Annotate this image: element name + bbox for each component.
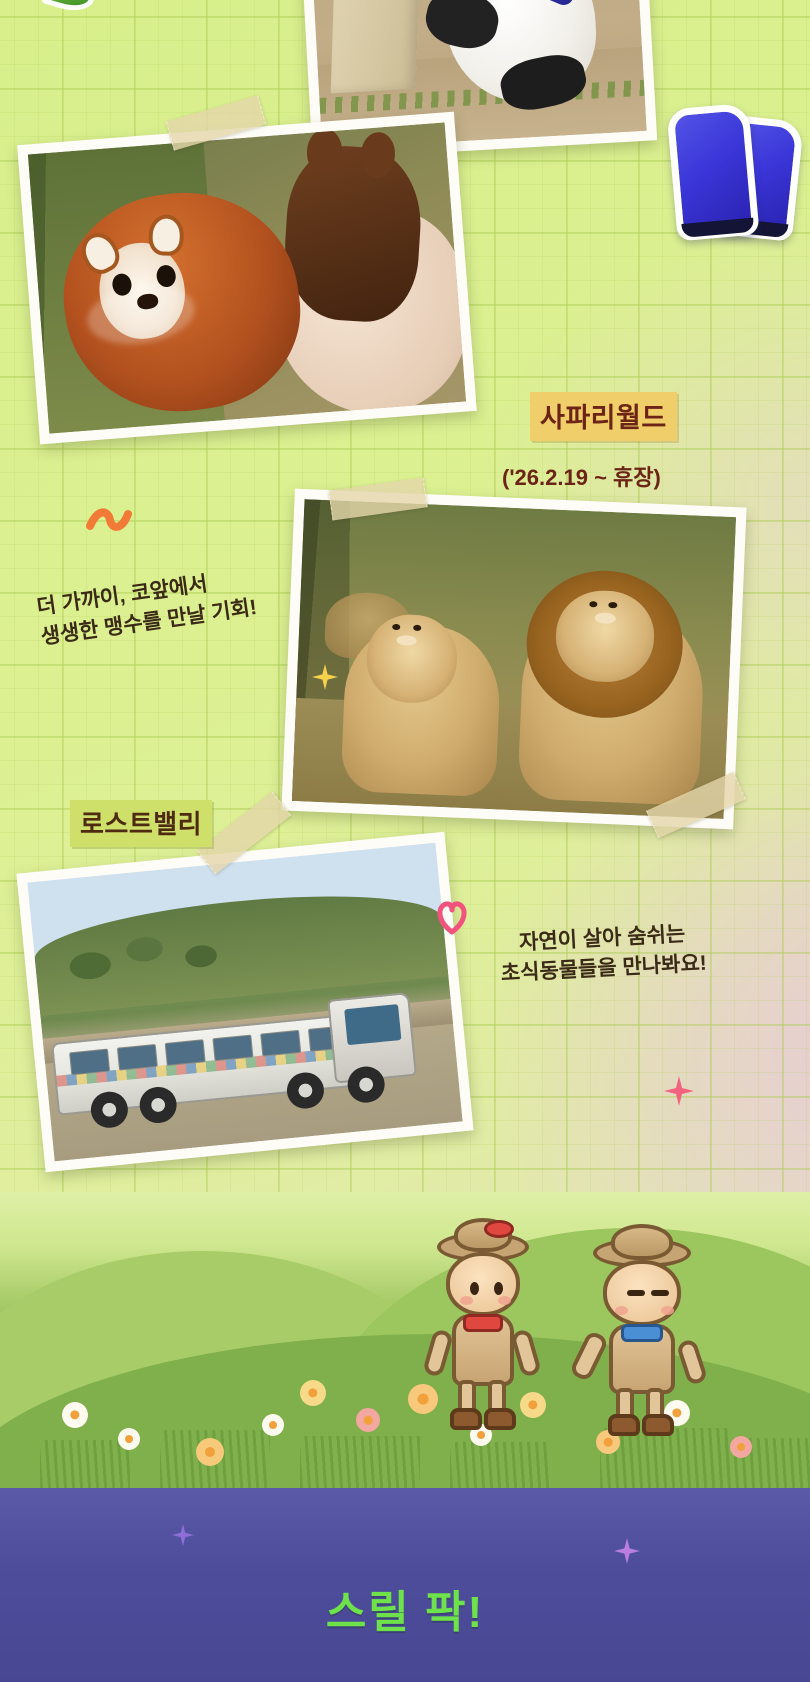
lioness-snout bbox=[397, 635, 417, 646]
boy-shoe-left bbox=[608, 1414, 640, 1436]
girl-arm-right bbox=[510, 1328, 542, 1378]
girl-shoe-left bbox=[450, 1408, 482, 1430]
banner-sparkle-left bbox=[172, 1524, 194, 1546]
flower bbox=[62, 1402, 88, 1428]
bus-window bbox=[260, 1030, 301, 1057]
safari-world-date-note: ('26.2.19 ~ 휴장) bbox=[502, 460, 661, 492]
promo-page: 사파리월드 ('26.2.19 ~ 휴장) 더 가까이, 코앞에서 생생한 맹수… bbox=[0, 0, 810, 1682]
panda-plank bbox=[330, 0, 420, 94]
boy-arm-right bbox=[676, 1338, 709, 1386]
girl-explorer-mascot bbox=[424, 1218, 542, 1436]
banner-sparkle-right bbox=[614, 1538, 640, 1564]
bus-windshield bbox=[345, 1004, 402, 1045]
boy-cheek-right bbox=[661, 1306, 674, 1315]
girl-cheek-left bbox=[460, 1296, 473, 1305]
banner-sparkle-shape-left bbox=[172, 1524, 194, 1546]
heart-icon bbox=[432, 896, 472, 936]
flower bbox=[196, 1438, 224, 1466]
male-lion-eye-left bbox=[589, 601, 598, 608]
red-panda-paw bbox=[280, 143, 424, 325]
boy-eye-left bbox=[627, 1290, 645, 1296]
sparkle-shape-left bbox=[312, 664, 338, 690]
grass-tuft bbox=[40, 1440, 130, 1488]
bus-window bbox=[69, 1048, 110, 1075]
boy-scarf bbox=[621, 1324, 663, 1342]
banner-sparkle-shape-right bbox=[614, 1538, 640, 1564]
flower bbox=[300, 1380, 326, 1406]
sparkle-icon-left bbox=[312, 664, 338, 690]
photo-card-safari-bus[interactable] bbox=[16, 832, 473, 1173]
caption-lost-valley: 자연이 살아 숨쉬는 초식동물들을 만나봐요! bbox=[499, 919, 708, 989]
photo-card-lions[interactable] bbox=[281, 489, 746, 830]
photo-image-safari-bus bbox=[27, 843, 462, 1162]
rain-boots-icon bbox=[666, 78, 810, 238]
section-label-safari-world: 사파리월드 bbox=[530, 392, 677, 441]
girl-cheek-right bbox=[498, 1296, 511, 1305]
boy-eye-right bbox=[651, 1290, 669, 1296]
girl-scarf bbox=[463, 1314, 503, 1332]
girl-eye-left bbox=[470, 1282, 479, 1295]
grass-tuft bbox=[450, 1442, 550, 1488]
boy-hat bbox=[611, 1224, 673, 1260]
lioness bbox=[340, 622, 502, 797]
bus-window bbox=[117, 1044, 158, 1071]
lioness-eye-right bbox=[413, 625, 421, 631]
photo-card-red-panda[interactable] bbox=[17, 112, 477, 445]
male-lion bbox=[517, 599, 707, 806]
flower bbox=[730, 1436, 752, 1458]
boy-head bbox=[603, 1260, 681, 1326]
sparkle-icon-right bbox=[664, 1076, 694, 1106]
lion-illustration bbox=[292, 499, 736, 819]
girl-hat-bow bbox=[484, 1220, 514, 1238]
bus-window bbox=[165, 1039, 206, 1066]
sparkle-shape-right bbox=[664, 1076, 694, 1106]
ribbon-icon bbox=[86, 504, 132, 538]
boy-cheek-left bbox=[615, 1306, 628, 1315]
boot-sole-front bbox=[681, 218, 754, 238]
flower bbox=[118, 1428, 140, 1450]
boot-front bbox=[666, 103, 759, 242]
girl-head bbox=[446, 1252, 520, 1316]
boy-shoe-right bbox=[642, 1414, 674, 1436]
grass-tuft bbox=[300, 1436, 420, 1488]
girl-arm-left bbox=[422, 1328, 454, 1378]
flower bbox=[356, 1408, 380, 1432]
flower bbox=[262, 1414, 284, 1436]
male-lion-eye-right bbox=[608, 602, 617, 609]
bamboo-leaf-icon bbox=[18, 0, 138, 50]
bottom-banner: 스릴 팍! bbox=[0, 1488, 810, 1682]
safari-bus-illustration bbox=[27, 843, 462, 1162]
bamboo-leaf-3 bbox=[41, 0, 97, 16]
bus-window bbox=[212, 1034, 253, 1061]
girl-shoe-right bbox=[484, 1408, 516, 1430]
banner-title: 스릴 팍! bbox=[0, 1576, 810, 1640]
red-panda-ear-right bbox=[148, 214, 184, 256]
boy-explorer-mascot bbox=[578, 1228, 706, 1440]
section-label-lost-valley: 로스트밸리 bbox=[70, 800, 212, 847]
photo-image-red-panda bbox=[28, 122, 466, 433]
photo-image-lions bbox=[292, 499, 736, 819]
red-panda-illustration bbox=[28, 122, 466, 433]
male-lion-snout bbox=[594, 612, 616, 624]
lioness-eye-left bbox=[392, 624, 400, 630]
girl-eye-right bbox=[494, 1282, 503, 1295]
